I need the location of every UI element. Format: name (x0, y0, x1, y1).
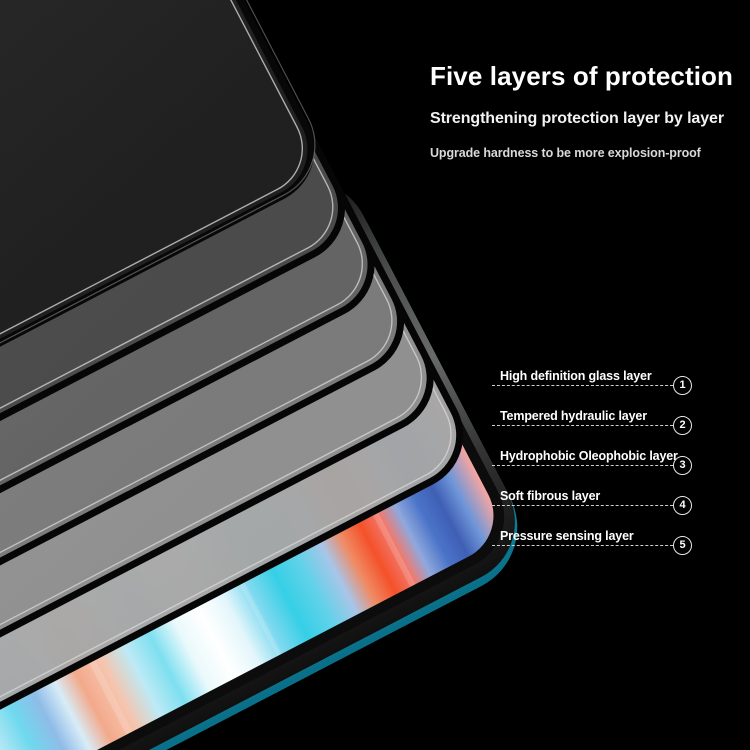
callout-rule-3 (492, 465, 678, 466)
callout-number-2: 2 (673, 416, 692, 435)
callout-label-2: Tempered hydraulic layer (500, 409, 647, 423)
callout-label-4: Soft fibrous layer (500, 489, 600, 503)
product-graphic: Five layers of protection Strengthening … (0, 0, 750, 750)
callout-label-1: High definition glass layer (500, 369, 652, 383)
callout-rule-1 (492, 385, 678, 386)
callout-rule-4 (492, 505, 678, 506)
callout-row-1: High definition glass layer 1 (492, 360, 698, 386)
callout-number-5: 5 (673, 536, 692, 555)
callout-row-5: Pressure sensing layer 5 (492, 520, 698, 546)
callout-number-3: 3 (673, 456, 692, 475)
layer-callout-list: High definition glass layer 1 Tempered h… (492, 0, 702, 750)
callout-row-4: Soft fibrous layer 4 (492, 480, 698, 506)
callout-rule-2 (492, 425, 678, 426)
callout-label-5: Pressure sensing layer (500, 529, 634, 543)
callout-number-1: 1 (673, 376, 692, 395)
callout-label-3: Hydrophobic Oleophobic layer (500, 449, 678, 463)
callout-number-4: 4 (673, 496, 692, 515)
callout-row-3: Hydrophobic Oleophobic layer 3 (492, 440, 698, 466)
callout-row-2: Tempered hydraulic layer 2 (492, 400, 698, 426)
callout-rule-5 (492, 545, 678, 546)
